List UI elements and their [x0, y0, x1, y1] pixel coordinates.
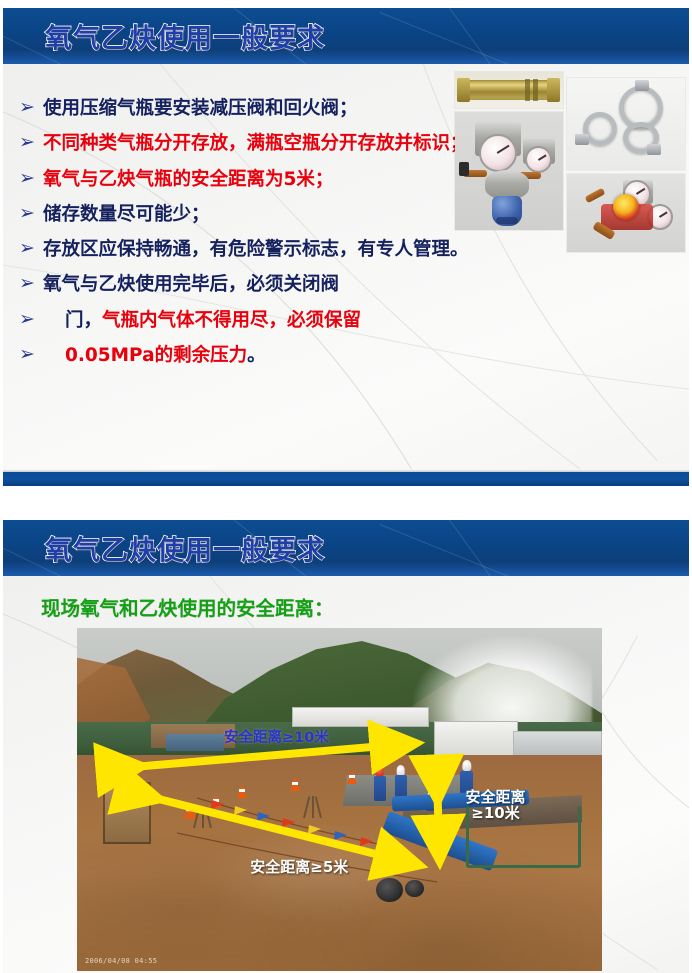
- slide-1-title-band: 氧气乙炔使用一般要求: [3, 8, 689, 64]
- slide-1-body: ➢ 使用压缩气瓶要安装减压阀和回火阀； ➢ 不同种类气瓶分开存放，满瓶空瓶分开存…: [3, 64, 689, 486]
- bullet-text-1: 使用压缩气瓶要安装减压阀和回火阀；: [43, 98, 358, 119]
- distance-label-right-line2: ≥10米: [466, 805, 526, 821]
- equipment-wheel: [405, 880, 423, 897]
- bullet-row-6: ➢ 氧气与乙炔使用完毕后，必须关闭阀: [19, 274, 489, 295]
- bullet-chevron-icon: ➢: [19, 274, 39, 294]
- distance-label-right-line1: 安全距离: [466, 789, 526, 805]
- worker-red-helmet: [374, 767, 386, 801]
- bullet-text-5: 存放区应保持畅通，有危险警示标志，有专人管理。: [43, 239, 469, 260]
- oxygen-regulator-photo: [455, 112, 563, 230]
- slideshow-page: 氧气乙炔使用一般要求 ➢ 使用压缩气瓶要安装减压阀和回火阀； ➢ 不同种类气瓶分…: [0, 0, 692, 973]
- bullet-chevron-icon: ➢: [19, 310, 39, 330]
- bullet-text-7-part-2: 气瓶内气体不得用尽，必须保留: [102, 310, 361, 331]
- slide-1-bullet-list: ➢ 使用压缩气瓶要安装减压阀和回火阀； ➢ 不同种类气瓶分开存放，满瓶空瓶分开存…: [19, 98, 489, 380]
- building-white-near: [434, 721, 518, 759]
- survey-tripod: [193, 806, 213, 828]
- slide-2-title: 氧气乙炔使用一般要求: [45, 529, 325, 568]
- bullet-row-5: ➢ 存放区应保持畅通，有危险警示标志，有专人管理。: [19, 239, 489, 260]
- bullet-row-8: ➢ 0.05MPa的剩余压力。: [19, 345, 489, 366]
- bullet-row-4: ➢ 储存数量尽可能少；: [19, 204, 489, 225]
- hose-clamps-photo: [567, 78, 685, 170]
- bullet-chevron-icon: ➢: [19, 204, 39, 224]
- equipment-wheel: [376, 878, 402, 902]
- bullet-row-2: ➢ 不同种类气瓶分开存放，满瓶空瓶分开存放并标识；: [19, 133, 489, 154]
- traffic-cone: [237, 784, 247, 798]
- slide-1-footer-bar: [3, 472, 689, 486]
- bullet-chevron-icon: ➢: [19, 345, 39, 365]
- bullet-row-7: ➢ 门，气瓶内气体不得用尽，必须保留: [19, 310, 489, 331]
- slide-2-subtitle: 现场氧气和乙炔使用的安全距离：: [41, 592, 334, 621]
- slide-2: 氧气乙炔使用一般要求 现场氧气和乙炔使用的安全距离：: [0, 520, 692, 973]
- distance-label-bottom: 安全距离≥5米: [250, 856, 348, 877]
- distance-label-right: 安全距离 ≥10米: [466, 789, 526, 821]
- bullet-text-7: 门，气瓶内气体不得用尽，必须保留: [43, 310, 361, 331]
- slide-2-title-band: 氧气乙炔使用一般要求: [3, 520, 689, 576]
- bullet-chevron-icon: ➢: [19, 133, 39, 153]
- slide-1-title: 氧气乙炔使用一般要求: [45, 17, 325, 56]
- bullet-row-1: ➢ 使用压缩气瓶要安装减压阀和回火阀；: [19, 98, 489, 119]
- bullet-text-8-part-1: 0.05MPa的剩余压力: [65, 345, 247, 366]
- bullet-text-2: 不同种类气瓶分开存放，满瓶空瓶分开存放并标识；: [43, 133, 469, 154]
- shed-container: [166, 734, 224, 751]
- bullet-text-3: 氧气与乙炔气瓶的安全距离为5米；: [43, 169, 333, 190]
- gas-cylinder-cart: [103, 782, 150, 844]
- survey-tripod: [303, 796, 323, 818]
- slide-2-body: 现场氧气和乙炔使用的安全距离：: [3, 576, 689, 973]
- bullet-text-6: 氧气与乙炔使用完毕后，必须关闭阀: [43, 274, 339, 295]
- flashback-arrestor-photo: [455, 72, 563, 108]
- construction-site-photo: 安全距离≥10米 安全距离 ≥10米 安全距离≥5米 2006/04/08 04…: [77, 628, 602, 971]
- bullet-text-7-part-1: 门，: [65, 310, 102, 331]
- acetylene-regulator-photo: [567, 174, 685, 252]
- traffic-cone: [290, 777, 300, 791]
- bullet-text-8-part-2: 。: [247, 345, 266, 366]
- bullet-text-4: 储存数量尽可能少；: [43, 204, 210, 225]
- bullet-chevron-icon: ➢: [19, 98, 39, 118]
- distance-label-top: 安全距离≥10米: [224, 726, 329, 747]
- slide-1: 氧气乙炔使用一般要求 ➢ 使用压缩气瓶要安装减压阀和回火阀； ➢ 不同种类气瓶分…: [0, 8, 692, 486]
- bullet-chevron-icon: ➢: [19, 239, 39, 259]
- bullet-chevron-icon: ➢: [19, 169, 39, 189]
- bullet-row-3: ➢ 氧气与乙炔气瓶的安全距离为5米；: [19, 169, 489, 190]
- bullet-text-8: 0.05MPa的剩余压力。: [43, 345, 266, 366]
- traffic-cone: [347, 770, 357, 784]
- photo-timestamp: 2006/04/08 04:55: [85, 957, 157, 965]
- building-white-far: [292, 707, 429, 728]
